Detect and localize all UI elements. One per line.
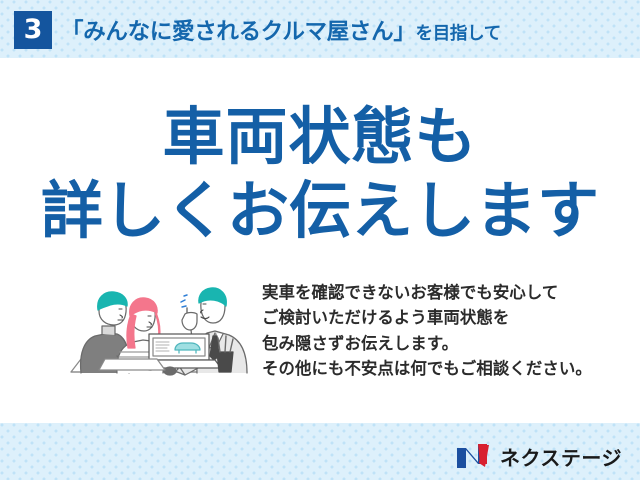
content-row: 実車を確認できないお客様でも安心して ご検討いただけるよう車両状態を 包み隠さず… [0, 272, 640, 400]
consultation-scene-svg [57, 276, 255, 388]
header-title: 「みんなに愛されるクルマ屋さん」 を目指して [61, 12, 501, 48]
step-number-badge: 3 [14, 11, 52, 49]
body-line-4: その他にも不安点は何でもご相談ください。 [262, 356, 634, 381]
brand-name: ネクステージ [500, 442, 622, 471]
header-title-suffix: を目指して [416, 20, 501, 45]
brand-logo: ネクステージ [456, 441, 622, 471]
consultation-illustration [57, 276, 255, 388]
body-line-2: ご検討いただけるよう車両状態を [262, 305, 634, 330]
body-line-3: 包み隠さずお伝えします。 [262, 331, 634, 356]
promo-banner: 3 「みんなに愛されるクルマ屋さん」 を目指して 車両状態も 詳しくお伝えします [0, 0, 640, 480]
headline: 車両状態も 詳しくお伝えします [0, 100, 640, 248]
header-title-main: 「みんなに愛されるクルマ屋さん」 [61, 14, 416, 46]
body-copy: 実車を確認できないお客様でも安心して ご検討いただけるよう車両状態を 包み隠さず… [262, 280, 634, 382]
body-line-1: 実車を確認できないお客様でも安心して [262, 280, 634, 305]
nextage-n-mark-icon [456, 443, 492, 469]
headline-line-2: 詳しくお伝えします [0, 174, 640, 248]
headline-line-1: 車両状態も [0, 100, 640, 174]
